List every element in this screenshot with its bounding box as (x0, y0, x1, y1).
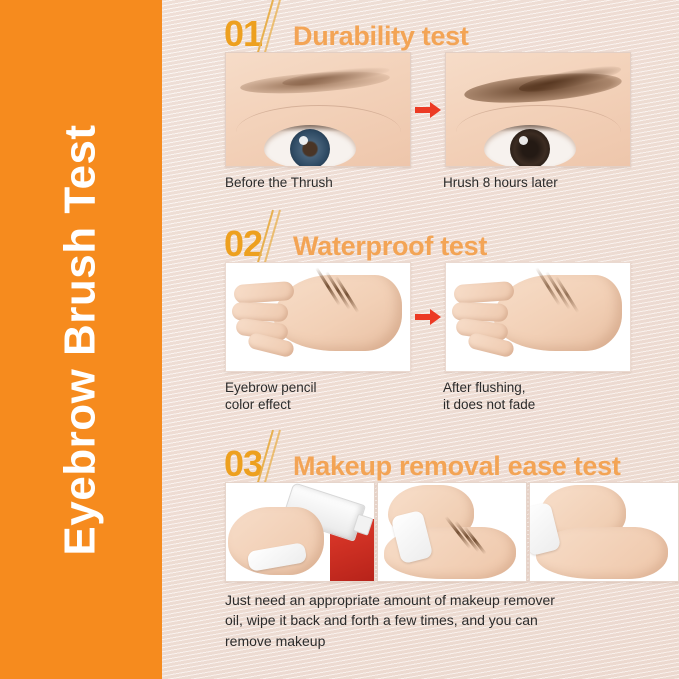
eyeball (264, 125, 356, 167)
section-01-title: Durability test (293, 23, 469, 52)
caption-right: After flushing, it does not fade (443, 379, 627, 414)
section-01-header: 01 Durability test (162, 0, 679, 52)
slash-divider-icon (265, 6, 291, 52)
caption-right-line-1: After flushing, (443, 379, 627, 396)
caption-left: Eyebrow pencil color effect (225, 379, 409, 414)
section-01-photos (162, 52, 679, 167)
section-durability-test: 01 Durability test (162, 0, 679, 191)
photo-eye-before (225, 52, 411, 167)
side-banner: Eyebrow Brush Test (0, 0, 162, 679)
photo-clean-result (529, 482, 679, 582)
hand (452, 271, 624, 365)
section-waterproof-test: 02 Waterproof test (162, 210, 679, 414)
caption-line-3: remove makeup (225, 631, 679, 651)
section-03-header: 03 Makeup removal ease test (162, 430, 679, 482)
arrow-right-02 (411, 262, 445, 372)
arrow-right-01 (411, 52, 445, 167)
section-02-header: 02 Waterproof test (162, 210, 679, 262)
caption-spacer (409, 379, 443, 414)
photo-pour-remover-oil (225, 482, 375, 582)
section-02-title: Waterproof test (293, 233, 487, 262)
eyeball (484, 125, 576, 167)
section-01-captions: Before the Thrush Hrush 8 hours later (162, 174, 679, 191)
slash-divider-icon (265, 216, 291, 262)
section-03-title: Makeup removal ease test (293, 453, 620, 482)
slash-divider-icon (265, 436, 291, 482)
hand (232, 271, 404, 365)
section-02-number: 02 (224, 226, 262, 262)
iris (510, 129, 550, 167)
infographic-page: Eyebrow Brush Test 01 Durability test (0, 0, 679, 679)
caption-line-1: Just need an appropriate amount of makeu… (225, 590, 679, 610)
section-01-number: 01 (224, 16, 262, 52)
photo-eye-after (445, 52, 631, 167)
section-03-photos (162, 482, 679, 582)
caption-line-2: oil, wipe it back and forth a few times,… (225, 610, 679, 630)
caption-right-line-2: it does not fade (443, 396, 627, 413)
section-03-caption: Just need an appropriate amount of makeu… (162, 590, 679, 651)
caption-before: Before the Thrush (225, 174, 409, 191)
iris (290, 129, 330, 167)
section-02-photos (162, 262, 679, 372)
caption-spacer (409, 174, 443, 191)
content-column: 01 Durability test (162, 0, 679, 679)
caption-after: Hrush 8 hours later (443, 174, 627, 191)
photo-hand-swatch (225, 262, 411, 372)
caption-left-line-1: Eyebrow pencil (225, 379, 409, 396)
section-02-captions: Eyebrow pencil color effect After flushi… (162, 379, 679, 414)
section-03-number: 03 (224, 446, 262, 482)
photo-wipe-swatches (377, 482, 527, 582)
section-makeup-removal-test: 03 Makeup removal ease test (162, 430, 679, 651)
photo-hand-after-wash (445, 262, 631, 372)
banner-title: Eyebrow Brush Test (56, 124, 106, 555)
caption-left-line-2: color effect (225, 396, 409, 413)
